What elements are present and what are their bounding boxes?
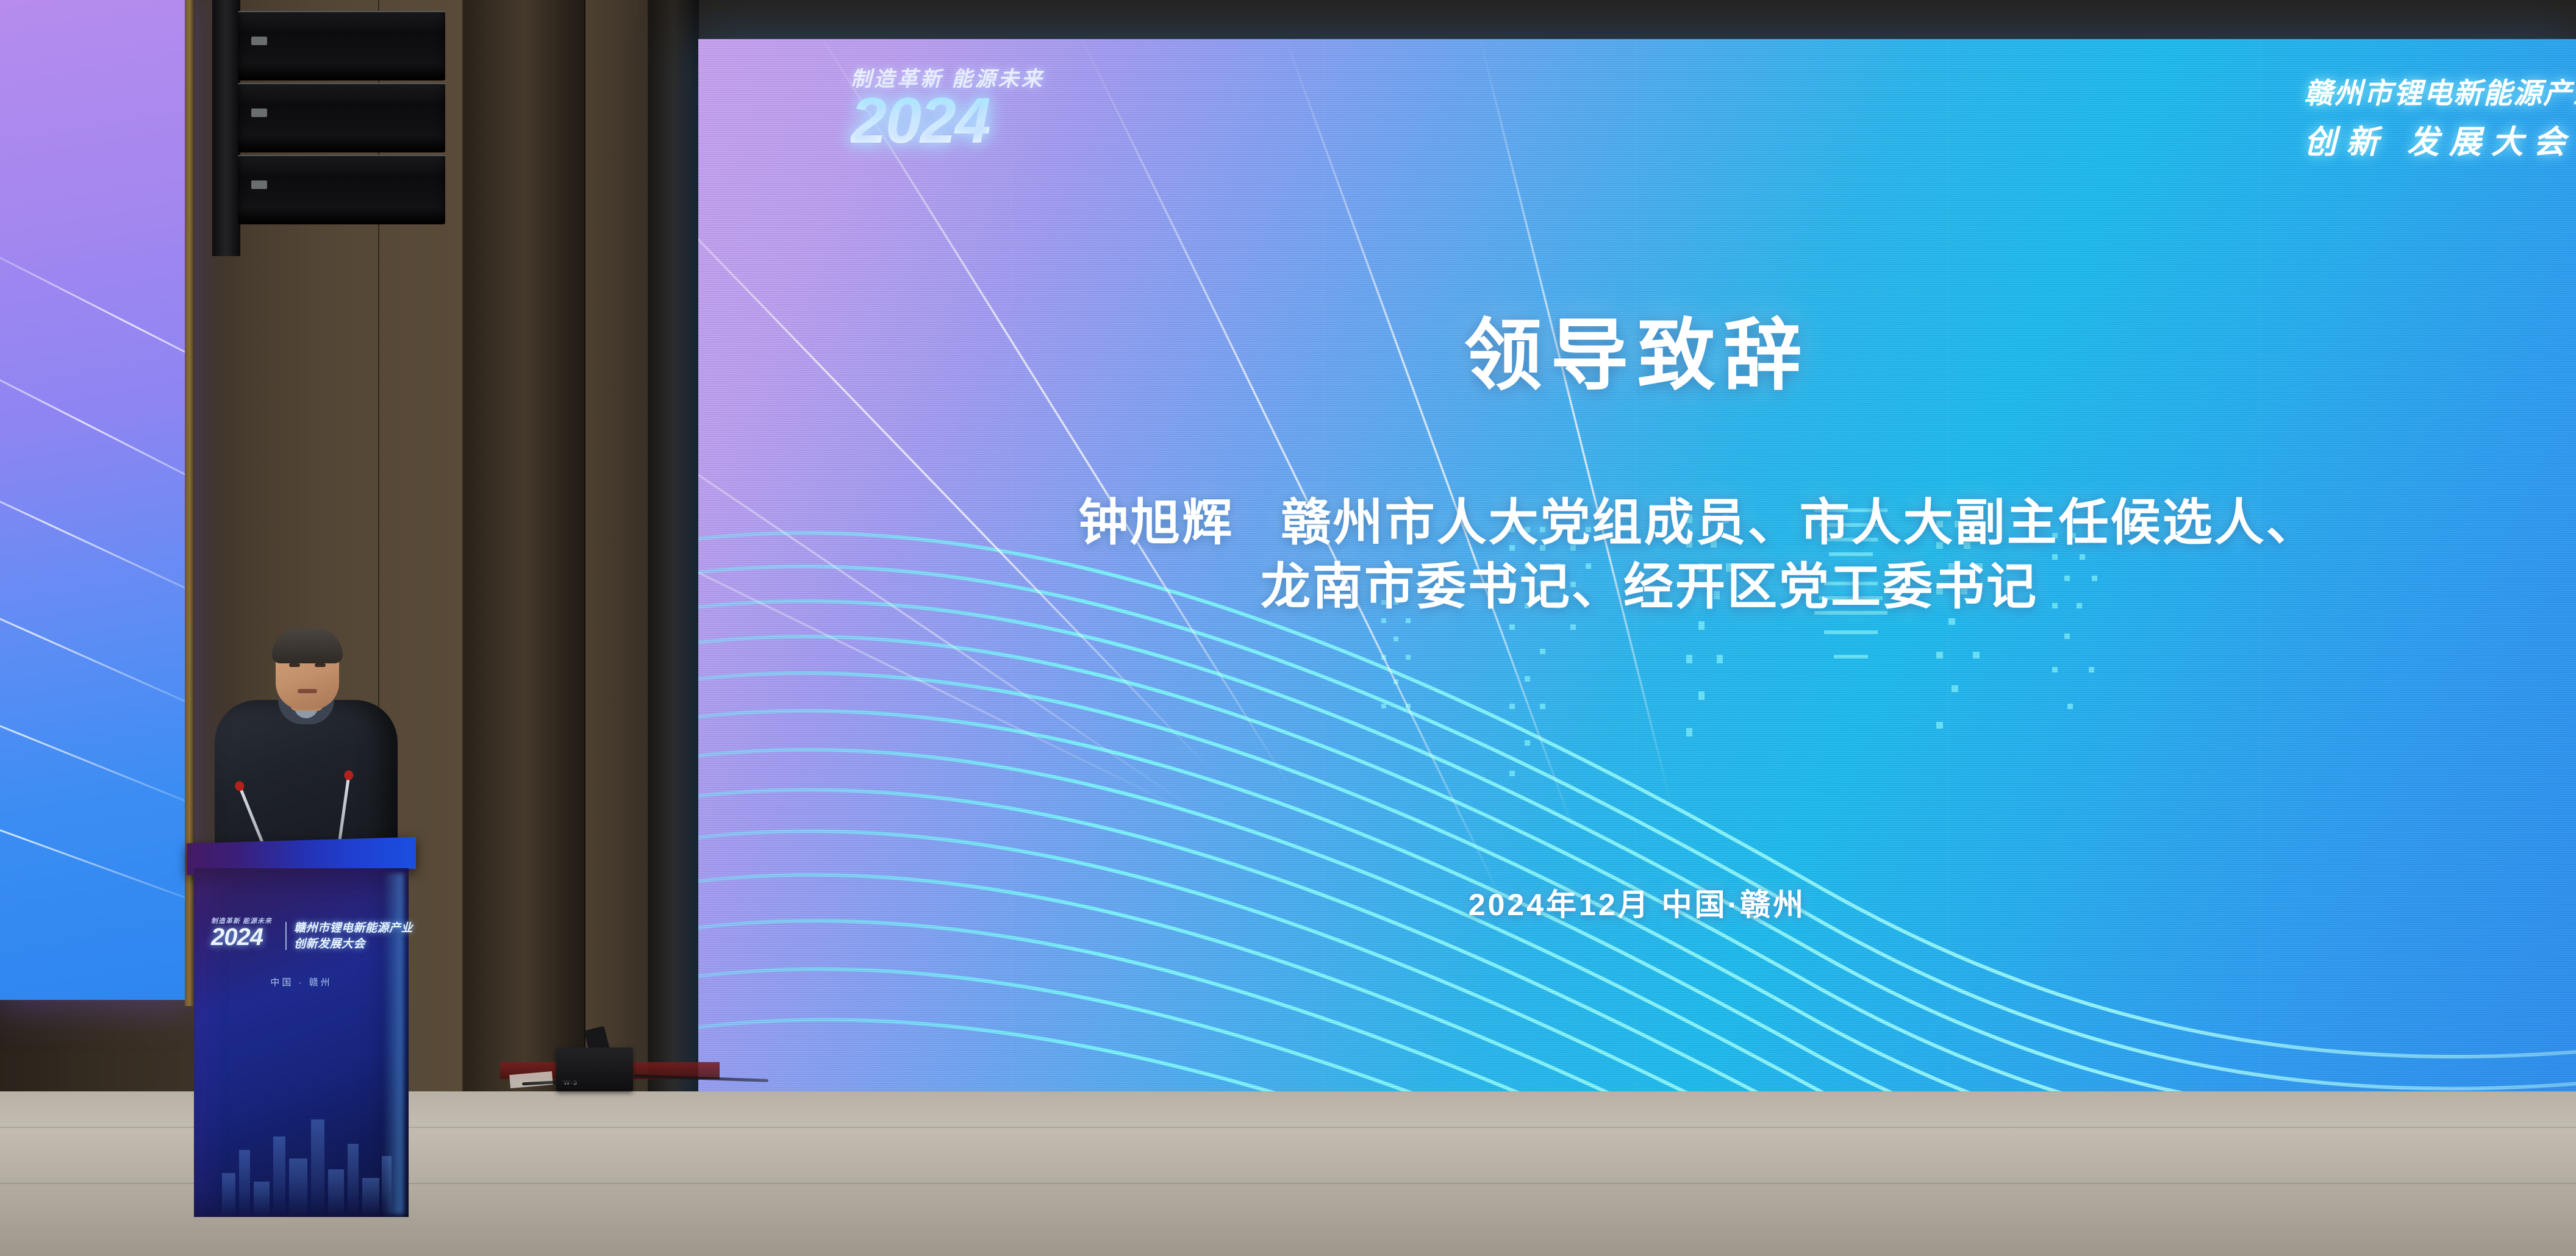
speaker-block: 钟旭辉 赣州市人大党组成员、市人大副主任候选人、 龙南市委书记、经开区党工委书记 xyxy=(735,491,2576,619)
speaker-title-line2: 龙南市委书记、经开区党工委书记 xyxy=(698,555,2576,619)
person-eye xyxy=(289,663,300,667)
podium-skyline-graphic xyxy=(216,1089,393,1217)
event-logo-left: 制造革新 能源未来 2024 xyxy=(851,62,1044,153)
wall-panel-seam xyxy=(462,0,463,1091)
conference-stage-photo: 制造革新 能源未来 2024 赣州市锂电新能源产业 创新 发展大会 领导致辞 钟… xyxy=(0,0,2576,1256)
wall-panel-seam xyxy=(584,0,585,1091)
slide-headline: 领导致辞 xyxy=(698,292,2576,405)
event-name-right: 赣州市锂电新能源产业 创新 发展大会 xyxy=(2304,70,2576,163)
person-eye xyxy=(315,663,326,667)
main-led-screen: 制造革新 能源未来 2024 赣州市锂电新能源产业 创新 发展大会 领导致辞 钟… xyxy=(698,39,2576,1113)
wall-panel-seam xyxy=(463,0,585,1091)
podium-logo-divider xyxy=(285,922,287,950)
speaker-name-and-title-line1: 钟旭辉 赣州市人大党组成员、市人大副主任候选人、 xyxy=(735,491,2576,555)
event-name-line1: 赣州市锂电新能源产业 xyxy=(2304,70,2576,112)
person-hair xyxy=(272,628,343,663)
logo-year: 2024 xyxy=(851,90,1044,153)
podium-event-logo: 制造革新 能源未来 2024 赣州市锂电新能源产业 创新发展大会 xyxy=(211,916,394,949)
podium: 制造革新 能源未来 2024 赣州市锂电新能源产业 创新发展大会 中国 · 赣州 xyxy=(194,840,413,1221)
podium-location: 中国 · 赣州 xyxy=(194,976,409,988)
speaker-cabinet xyxy=(238,11,445,80)
speaker-cabinet xyxy=(238,155,445,224)
event-name-line2: 创新 发展大会 xyxy=(2304,116,2576,163)
speaker-rigging xyxy=(212,0,240,256)
line-array-speaker-stack xyxy=(238,0,457,244)
podium-front-panel: 制造革新 能源未来 2024 赣州市锂电新能源产业 创新发展大会 中国 · 赣州 xyxy=(194,868,409,1217)
speaker-person xyxy=(215,628,398,872)
podium-event-line1: 赣州市锂电新能源产业 xyxy=(294,921,413,937)
side-led-screen xyxy=(0,0,186,1000)
event-dateline: 2024年12月 中国·赣州 xyxy=(698,880,2576,924)
person-mouth xyxy=(298,689,317,693)
speaker-name: 钟旭辉 xyxy=(1078,495,1234,551)
podium-event-name: 赣州市锂电新能源产业 创新发展大会 xyxy=(294,921,413,952)
speaker-cabinet xyxy=(238,83,445,152)
wall-panel-seam xyxy=(649,0,699,1091)
speaker-title-line1: 赣州市人大党组成员、市人大副主任候选人、 xyxy=(1281,495,2318,551)
podium-event-line2: 创新发展大会 xyxy=(294,937,413,952)
